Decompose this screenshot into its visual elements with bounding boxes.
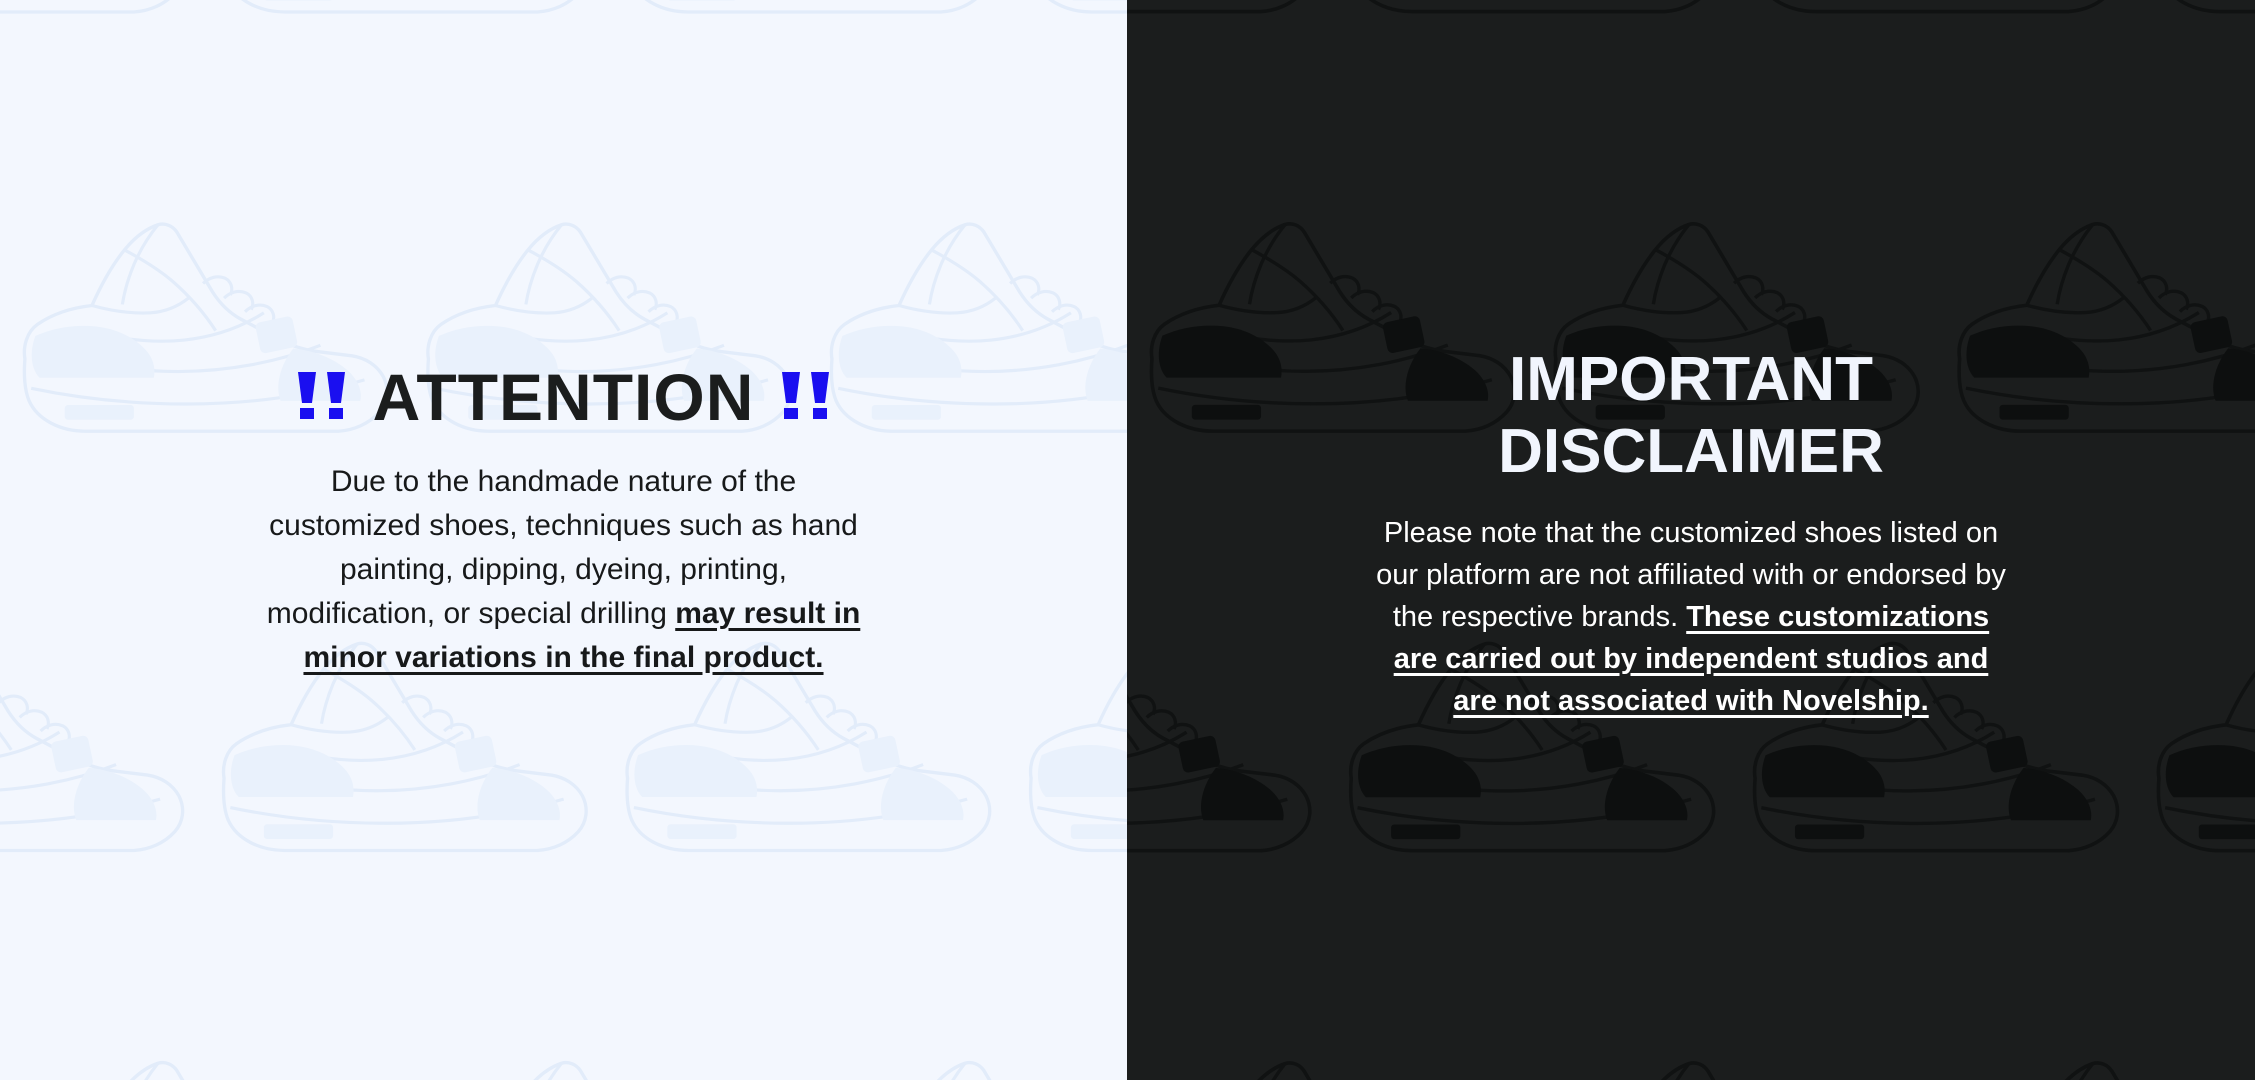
disclaimer-heading-line-1: IMPORTANT xyxy=(1247,344,2135,416)
disclaimer-content: IMPORTANT DISCLAIMER Please note that th… xyxy=(1127,344,2255,722)
attention-panel: ATTENTION Due to the handmade nature of … xyxy=(0,0,1127,1080)
attention-heading-word: ATTENTION xyxy=(373,364,755,430)
disclaimer-heading: IMPORTANT DISCLAIMER xyxy=(1247,344,2135,488)
disclaimer-heading-line-2: DISCLAIMER xyxy=(1247,416,2135,488)
attention-disclaimer-banner: ATTENTION Due to the handmade nature of … xyxy=(0,0,2255,1080)
disclaimer-body-text: Please note that the customized shoes li… xyxy=(1371,512,2011,722)
double-exclamation-icon-right xyxy=(780,370,831,420)
double-exclamation-icon-left xyxy=(296,370,347,420)
attention-body-text: Due to the handmade nature of the custom… xyxy=(254,460,874,680)
attention-content: ATTENTION Due to the handmade nature of … xyxy=(0,364,1127,680)
disclaimer-panel: IMPORTANT DISCLAIMER Please note that th… xyxy=(1127,0,2255,1080)
attention-heading: ATTENTION xyxy=(120,364,1007,430)
